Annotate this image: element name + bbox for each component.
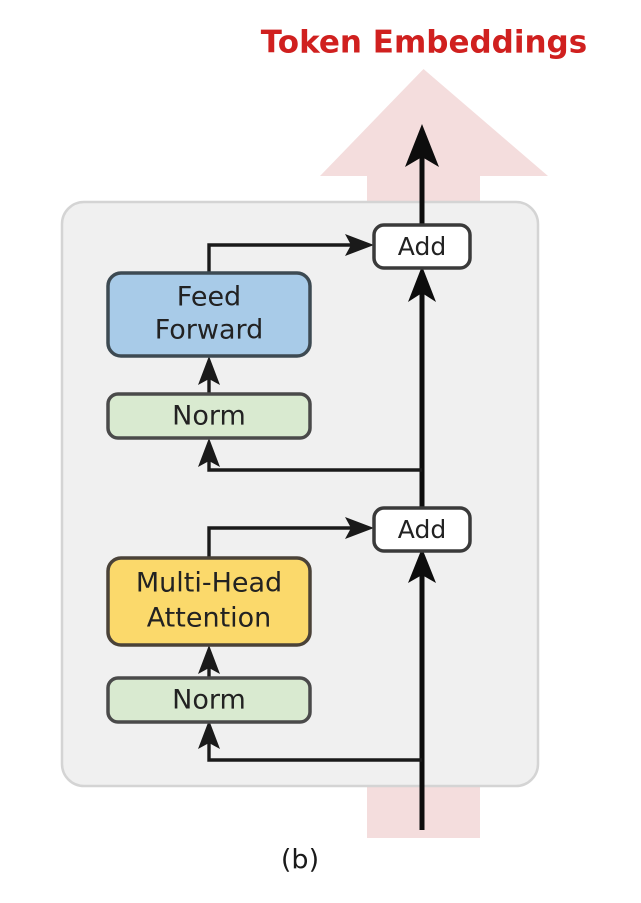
figure-caption: (b) — [281, 845, 319, 876]
node-add-bottom[interactable]: Add — [374, 508, 470, 551]
figure-root: Add Feed Forward Norm Add Multi-Head Att… — [0, 0, 641, 903]
node-norm-bottom-label: Norm — [172, 685, 246, 716]
node-multi-head-attention-label-line2: Attention — [147, 603, 272, 634]
node-multi-head-attention[interactable]: Multi-Head Attention — [108, 558, 310, 645]
node-feed-forward-label-line1: Feed — [177, 282, 241, 313]
node-feed-forward[interactable]: Feed Forward — [108, 273, 310, 356]
node-norm-top-label: Norm — [172, 401, 246, 432]
node-norm-top[interactable]: Norm — [108, 394, 310, 438]
node-norm-bottom[interactable]: Norm — [108, 678, 310, 722]
figure-title: Token Embeddings — [261, 25, 587, 61]
node-add-bottom-label: Add — [398, 515, 446, 544]
transformer-block-diagram: Add Feed Forward Norm Add Multi-Head Att… — [0, 0, 641, 903]
node-add-top[interactable]: Add — [374, 225, 470, 268]
node-multi-head-attention-label-line1: Multi-Head — [136, 568, 282, 599]
node-add-top-label: Add — [398, 232, 446, 261]
node-feed-forward-label-line2: Forward — [155, 315, 264, 346]
